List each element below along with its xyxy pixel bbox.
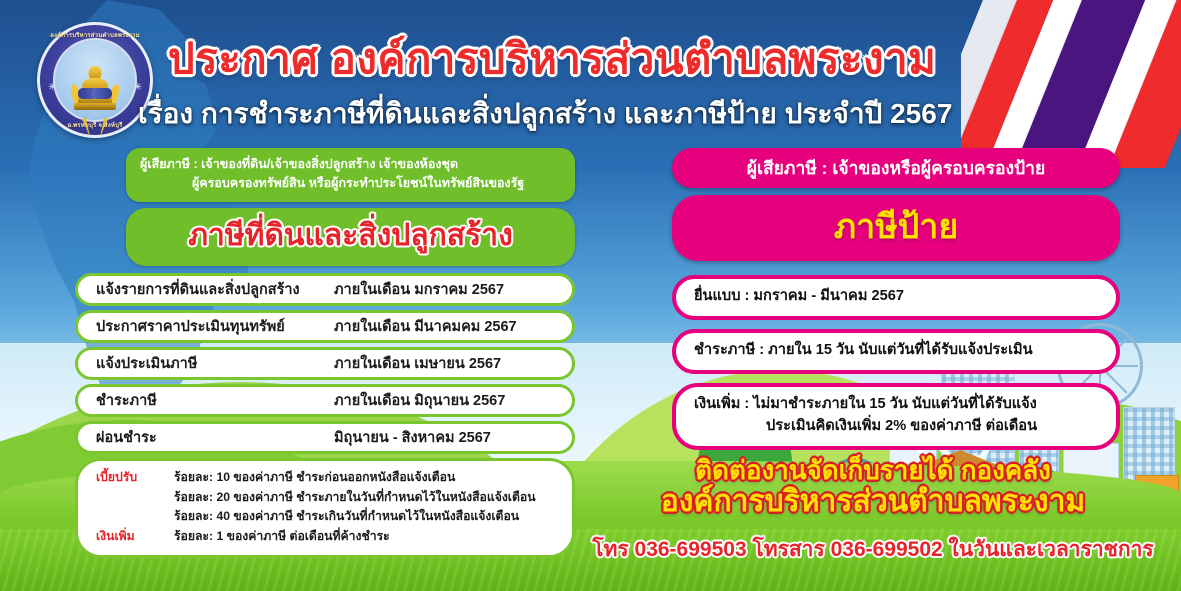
table-row: แจ้งประเมินภาษี ภายในเดือน เมษายน 2567	[75, 347, 575, 380]
contact-footer: ติดต่องานจัดเก็บรายได้ กองคลัง องค์การบร…	[565, 455, 1181, 566]
poster-header: องค์การบริหารส่วนตำบลพระงาม อ.พรหมบุรี จ…	[0, 0, 1181, 150]
penalty-fine-line-3: ร้อยละ: 40 ของค่าภาษี ชำระเกินวันที่กำหน…	[174, 507, 554, 527]
table-row: แจ้งรายการที่ดินและสิ่งปลูกสร้าง ภายในเด…	[75, 273, 575, 306]
contact-line-2: องค์การบริหารส่วนตำบลพระงาม	[565, 485, 1181, 520]
list-item: ยื่นแบบ : มกราคม - มีนาคม 2567	[672, 275, 1120, 320]
seal-inner-disc	[53, 38, 137, 122]
penalty-spacer	[96, 488, 174, 508]
land-building-tax-panel: ผู้เสียภาษี : เจ้าของที่ดิน/เจ้าของสิ่งป…	[75, 148, 575, 558]
signboard-tax-panel: ผู้เสียภาษี : เจ้าของหรือผู้ครอบครองป้าย…	[672, 148, 1120, 459]
row-value: ภายในเดือน มีนาคมคม 2567	[334, 315, 552, 338]
penalty-row: ร้อยละ: 40 ของค่าภาษี ชำระเกินวันที่กำหน…	[96, 507, 554, 527]
right-panel-title: ภาษีป้าย	[672, 195, 1120, 261]
penalty-box: เบี้ยปรับ ร้อยละ: 10 ของค่าภาษี ชำระก่อน…	[75, 458, 575, 558]
pill-line-1: ชำระภาษี : ภายใน 15 วัน นับแต่วันที่ได้ร…	[694, 340, 1100, 362]
row-value: ภายในเดือน มิถุนายน 2567	[334, 389, 552, 412]
penalty-fine-label: เบี้ยปรับ	[96, 468, 174, 488]
contact-phone-line: โทร 036-699503 โทรสาร 036-699502 ในวันแล…	[565, 533, 1181, 566]
right-panel-title-text: ภาษีป้าย	[834, 208, 959, 246]
penalty-fine-line-1: ร้อยละ: 10 ของค่าภาษี ชำระก่อนออกหนังสือ…	[174, 468, 554, 488]
left-panel-title: ภาษีที่ดินและสิ่งปลูกสร้าง	[126, 208, 575, 266]
row-value: ภายในเดือน มกราคม 2567	[334, 278, 552, 301]
penalty-row: เงินเพิ่ม ร้อยละ: 1 ของค่าภาษี ต่อเดือนท…	[96, 527, 554, 547]
row-label: แจ้งประเมินภาษี	[96, 352, 197, 375]
left-taxpayer-line1: ผู้เสียภาษี : เจ้าของที่ดิน/เจ้าของสิ่งป…	[140, 155, 561, 174]
municipal-seal-logo: องค์การบริหารส่วนตำบลพระงาม อ.พรหมบุรี จ…	[37, 22, 153, 138]
left-taxpayer-banner: ผู้เสียภาษี : เจ้าของที่ดิน/เจ้าของสิ่งป…	[126, 148, 575, 202]
penalty-row: เบี้ยปรับ ร้อยละ: 10 ของค่าภาษี ชำระก่อน…	[96, 468, 554, 488]
pill-line-1: ยื่นแบบ : มกราคม - มีนาคม 2567	[694, 286, 1100, 308]
table-row: ชำระภาษี ภายในเดือน มิถุนายน 2567	[75, 384, 575, 417]
penalty-spacer	[96, 507, 174, 527]
penalty-surcharge-label: เงินเพิ่ม	[96, 527, 174, 547]
row-value: ภายในเดือน เมษายน 2567	[334, 352, 552, 375]
row-label: ประกาศราคาประเมินทุนทรัพย์	[96, 315, 285, 338]
poster-canvas: องค์การบริหารส่วนตำบลพระงาม อ.พรหมบุรี จ…	[0, 0, 1181, 591]
penalty-row: ร้อยละ: 20 ของค่าภาษี ชำระภายในวันที่กำห…	[96, 488, 554, 508]
left-taxpayer-line2: ผู้ครอบครองทรัพย์สิน หรือผู้กระทำประโยชน…	[140, 174, 561, 193]
table-row: ผ่อนชำระ มิถุนายน - สิงหาคม 2567	[75, 421, 575, 454]
table-row: ประกาศราคาประเมินทุนทรัพย์ ภายในเดือน มี…	[75, 310, 575, 343]
list-item: ชำระภาษี : ภายใน 15 วัน นับแต่วันที่ได้ร…	[672, 329, 1120, 374]
penalty-fine-line-2: ร้อยละ: 20 ของค่าภาษี ชำระภายในวันที่กำห…	[174, 488, 554, 508]
pill-line-1: เงินเพิ่ม : ไม่มาชำระภายใน 15 วัน นับแต่…	[694, 394, 1100, 416]
handshake-icon	[78, 88, 112, 99]
contact-line-1: ติดต่องานจัดเก็บรายได้ กองคลัง	[565, 455, 1181, 485]
signboard-schedule-list: ยื่นแบบ : มกราคม - มีนาคม 2567 ชำระภาษี …	[672, 275, 1120, 450]
row-label: แจ้งรายการที่ดินและสิ่งปลูกสร้าง	[96, 278, 300, 301]
left-panel-title-text: ภาษีที่ดินและสิ่งปลูกสร้าง	[188, 219, 512, 252]
right-taxpayer-banner: ผู้เสียภาษี : เจ้าของหรือผู้ครอบครองป้าย	[672, 148, 1120, 188]
list-item: เงินเพิ่ม : ไม่มาชำระภายใน 15 วัน นับแต่…	[672, 383, 1120, 450]
penalty-surcharge-line: ร้อยละ: 1 ของค่าภาษี ต่อเดือนที่ค้างชำระ	[174, 527, 554, 547]
row-label: ผ่อนชำระ	[96, 426, 157, 449]
row-label: ชำระภาษี	[96, 389, 157, 412]
schedule-list: แจ้งรายการที่ดินและสิ่งปลูกสร้าง ภายในเด…	[75, 273, 575, 454]
buddha-statue-icon	[80, 66, 110, 108]
pill-line-2: ประเมินคิดเงินเพิ่ม 2% ของค่าภาษี ต่อเดื…	[694, 416, 1100, 438]
row-value: มิถุนายน - สิงหาคม 2567	[334, 426, 552, 449]
page-subtitle: เรื่อง การชำระภาษีที่ดินและสิ่งปลูกสร้าง…	[138, 92, 1078, 136]
page-title: ประกาศ องค์การบริหารส่วนตำบลพระงาม	[168, 26, 1038, 92]
